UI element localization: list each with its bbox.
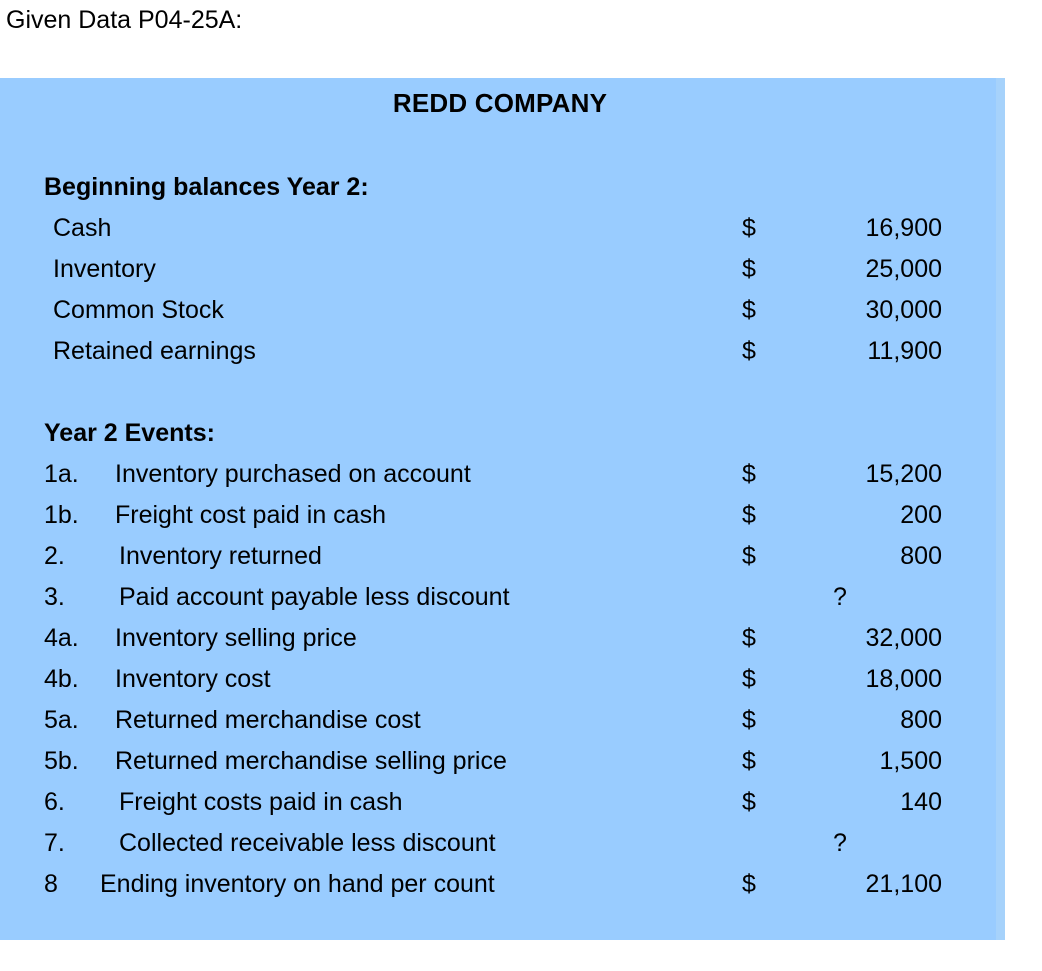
row-amount: 140	[790, 783, 942, 822]
currency-symbol: $	[742, 742, 756, 781]
currency-symbol: $	[742, 250, 756, 289]
currency-symbol: $	[742, 865, 756, 904]
table-row: Cash $ 16,900	[0, 209, 1005, 250]
row-amount: 15,200	[790, 455, 942, 494]
row-number: 2.	[44, 537, 65, 576]
row-number: 1a.	[44, 455, 79, 494]
row-amount: 800	[790, 537, 942, 576]
row-amount: 1,500	[790, 742, 942, 781]
row-amount-unknown: ?	[790, 578, 890, 617]
row-label: Inventory returned	[119, 537, 322, 576]
row-label: Freight costs paid in cash	[119, 783, 402, 822]
table-row: 5b. Returned merchandise selling price $…	[0, 742, 1005, 783]
row-amount: 21,100	[790, 865, 942, 904]
row-label: Inventory	[53, 250, 156, 289]
table-row: 2. Inventory returned $ 800	[0, 537, 1005, 578]
page-title: REDD COMPANY	[0, 88, 1000, 119]
row-number: 6.	[44, 783, 65, 822]
table-row: 5a. Returned merchandise cost $ 800	[0, 701, 1005, 742]
row-label: Paid account payable less discount	[119, 578, 510, 617]
row-amount: 25,000	[790, 250, 942, 289]
table-row: 1b. Freight cost paid in cash $ 200	[0, 496, 1005, 537]
section-heading-year-2-events: Year 2 Events:	[0, 414, 1005, 455]
row-amount: 32,000	[790, 619, 942, 658]
row-label: Ending inventory on hand per count	[100, 865, 495, 904]
row-label: Returned merchandise selling price	[115, 742, 507, 781]
section-year-2-events: Year 2 Events: 1a. Inventory purchased o…	[0, 414, 1005, 906]
given-data-caption: Given Data P04-25A:	[6, 4, 242, 36]
table-row: 4a. Inventory selling price $ 32,000	[0, 619, 1005, 660]
row-amount: 30,000	[790, 291, 942, 330]
row-label: Freight cost paid in cash	[115, 496, 386, 535]
currency-symbol: $	[742, 783, 756, 822]
table-row: 1a. Inventory purchased on account $ 15,…	[0, 455, 1005, 496]
table-row: 4b. Inventory cost $ 18,000	[0, 660, 1005, 701]
row-label: Inventory purchased on account	[115, 455, 471, 494]
table-row: Inventory $ 25,000	[0, 250, 1005, 291]
row-label: Inventory selling price	[115, 619, 357, 658]
table-row: 8 Ending inventory on hand per count $ 2…	[0, 865, 1005, 906]
row-number: 1b.	[44, 496, 79, 535]
section-beginning-balances: Beginning balances Year 2: Cash $ 16,900…	[0, 168, 1005, 373]
currency-symbol: $	[742, 701, 756, 740]
currency-symbol: $	[742, 496, 756, 535]
row-label: Collected receivable less discount	[119, 824, 496, 863]
row-number: 8	[44, 865, 58, 904]
row-number: 7.	[44, 824, 65, 863]
currency-symbol: $	[742, 209, 756, 248]
currency-symbol: $	[742, 537, 756, 576]
row-amount: 18,000	[790, 660, 942, 699]
row-amount: 16,900	[790, 209, 942, 248]
row-number: 4b.	[44, 660, 79, 699]
row-label: Inventory cost	[115, 660, 271, 699]
row-number: 5b.	[44, 742, 79, 781]
row-label: Common Stock	[53, 291, 224, 330]
currency-symbol: $	[742, 660, 756, 699]
table-row: Retained earnings $ 11,900	[0, 332, 1005, 373]
row-amount: 800	[790, 701, 942, 740]
currency-symbol: $	[742, 619, 756, 658]
table-row: 3. Paid account payable less discount ?	[0, 578, 1005, 619]
table-row: Common Stock $ 30,000	[0, 291, 1005, 332]
row-amount-unknown: ?	[790, 824, 890, 863]
row-label: Retained earnings	[53, 332, 256, 371]
section-heading-beginning-balances: Beginning balances Year 2:	[0, 168, 1005, 209]
row-number: 3.	[44, 578, 65, 617]
table-row: 7. Collected receivable less discount ?	[0, 824, 1005, 865]
currency-symbol: $	[742, 291, 756, 330]
row-amount: 200	[790, 496, 942, 535]
row-label: Returned merchandise cost	[115, 701, 421, 740]
currency-symbol: $	[742, 455, 756, 494]
row-number: 5a.	[44, 701, 79, 740]
row-number: 4a.	[44, 619, 79, 658]
table-row: 6. Freight costs paid in cash $ 140	[0, 783, 1005, 824]
row-amount: 11,900	[790, 332, 942, 371]
currency-symbol: $	[742, 332, 756, 371]
row-label: Cash	[53, 209, 111, 248]
